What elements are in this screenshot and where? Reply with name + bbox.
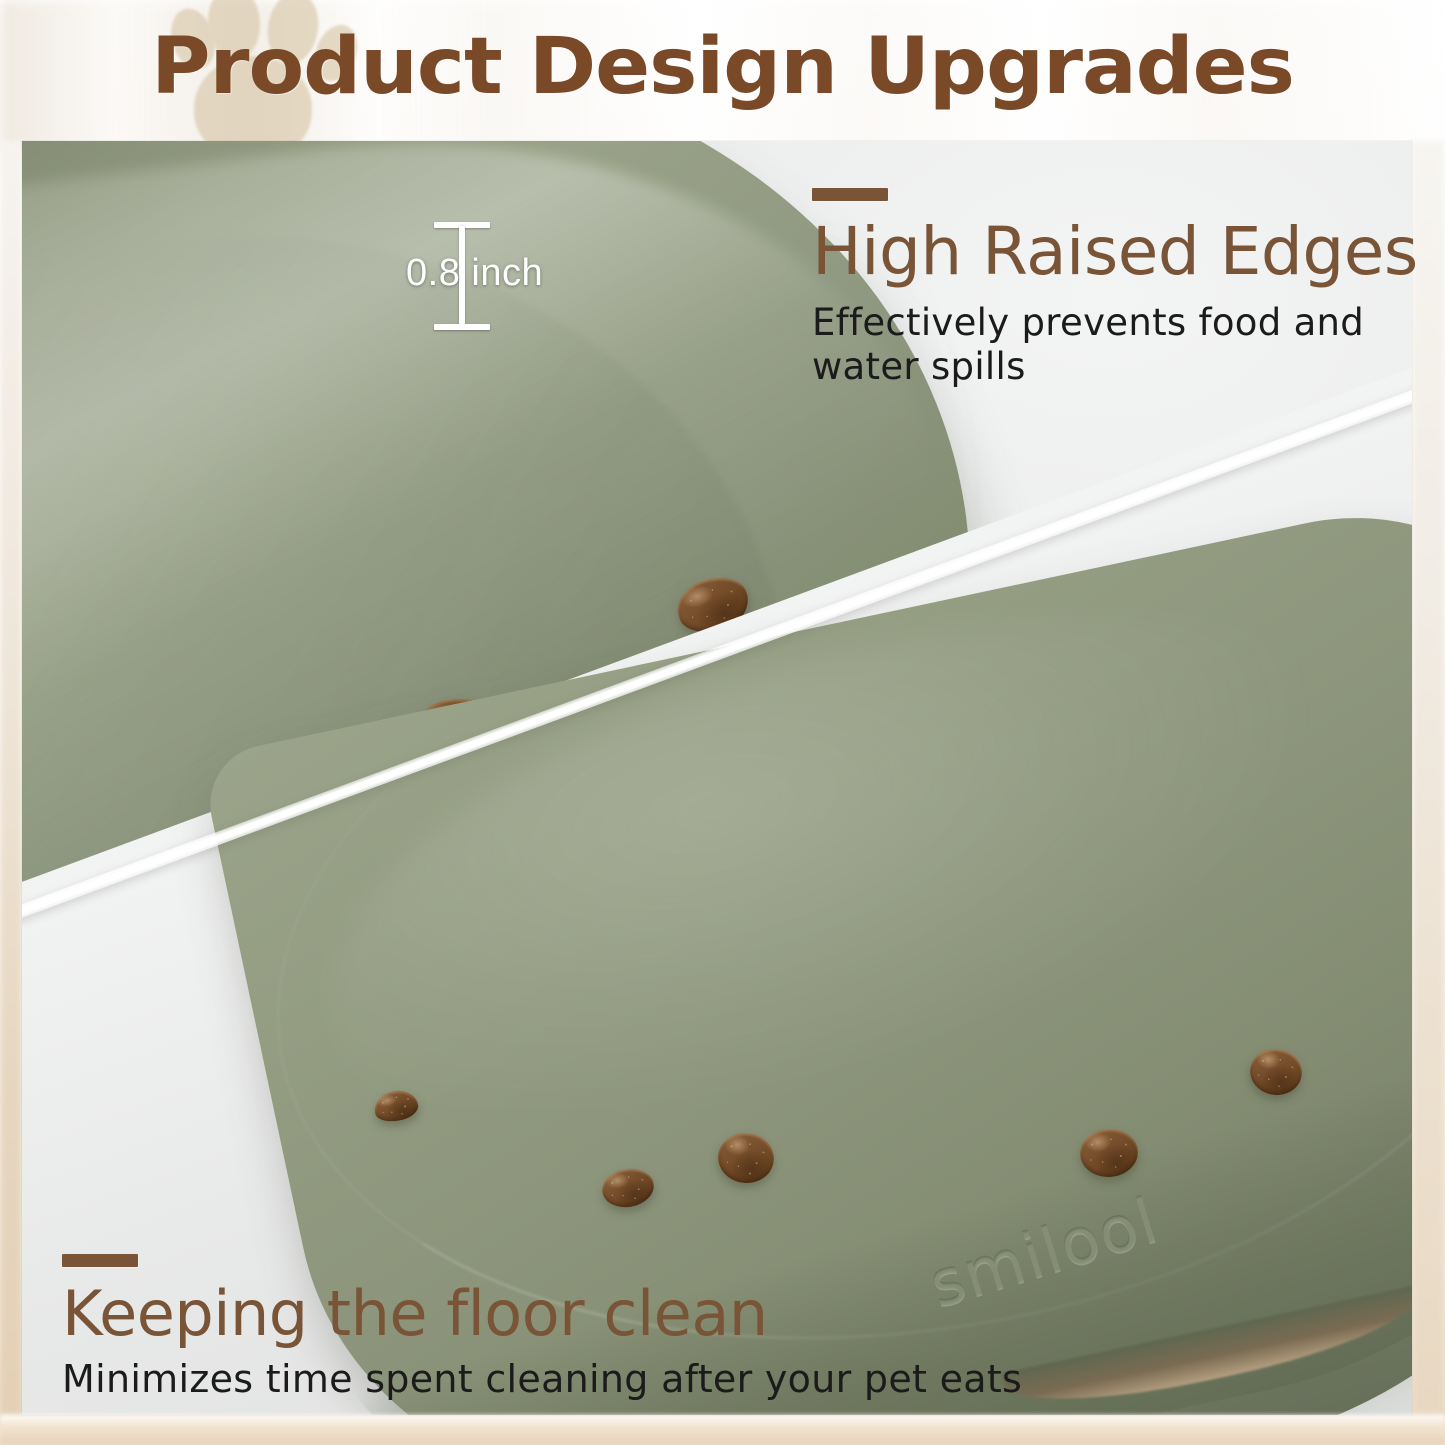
- callout-subtext: Effectively prevents food and water spil…: [812, 301, 1392, 388]
- dimension-label: 0.8 inch: [406, 252, 586, 295]
- kibble-piece: [1247, 1046, 1305, 1099]
- callout-heading: High Raised Edges: [812, 217, 1432, 287]
- callout-subtext: Minimizes time spent cleaning after your…: [62, 1358, 1242, 1402]
- page-title: Product Design Upgrades: [0, 22, 1445, 112]
- accent-bar: [62, 1254, 138, 1267]
- kibble-piece: [1078, 1127, 1139, 1179]
- product-infographic-canvas: Product Design Upgrades smilool 0.8: [0, 0, 1445, 1445]
- kibble-piece: [716, 1130, 777, 1186]
- photo-left-surround: [0, 141, 22, 1415]
- callout-keeping-floor-clean: Keeping the floor clean Minimizes time s…: [62, 1254, 1242, 1402]
- dimension-cap-bottom: [434, 324, 490, 330]
- accent-bar: [812, 188, 888, 201]
- callout-heading: Keeping the floor clean: [62, 1281, 1242, 1346]
- callout-high-raised-edges: High Raised Edges Effectively prevents f…: [812, 188, 1432, 388]
- floor-background-strip: [0, 1415, 1445, 1445]
